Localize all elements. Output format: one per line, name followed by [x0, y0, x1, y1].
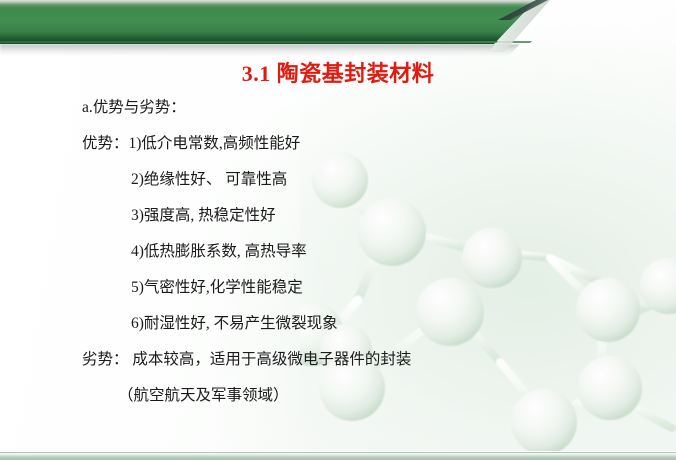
- advantage-line-1: 优势：1)低介电常数,高频性能好: [82, 136, 300, 152]
- slide-title: 3.1 陶瓷基封装材料: [0, 56, 676, 88]
- body-heading: a.优势与劣势：: [82, 100, 186, 116]
- disadvantage-line-1: 劣势： 成本较高，适用于高级微电子器件的封装: [82, 352, 411, 368]
- banner-green-bar: [0, 0, 536, 44]
- advantage-line-2: 2)绝缘性好、 可靠性高: [131, 172, 287, 188]
- disadvantage-line-2: （航空航天及军事领域）: [118, 388, 289, 404]
- banner-edge-line: [0, 41, 532, 43]
- advantage-line-3: 3)强度高, 热稳定性好: [131, 208, 276, 224]
- advantage-line-6: 6)耐湿性好, 不易产生微裂现象: [131, 316, 338, 332]
- advantage-line-4: 4)低热膨胀系数, 高热导率: [131, 244, 307, 260]
- bottom-rule-line: [0, 452, 676, 453]
- advantage-line-5: 5)气密性好,化学性能稳定: [131, 280, 303, 296]
- banner-under-shade: [0, 44, 520, 56]
- header-banner: [0, 0, 676, 52]
- slide-canvas: 3.1 陶瓷基封装材料 a.优势与劣势： 优势：1)低介电常数,高频性能好 2)…: [0, 0, 676, 460]
